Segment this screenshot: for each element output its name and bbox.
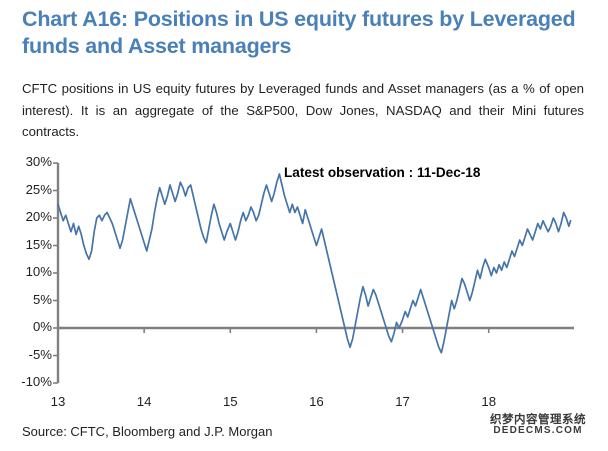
chart-title: Chart A16: Positions in US equity future…: [22, 6, 588, 60]
watermark: 织梦内容管理系统 DEDECMS.COM: [482, 414, 594, 437]
watermark-english: DEDECMS.COM: [482, 426, 594, 437]
x-axis-label: 13: [51, 394, 66, 409]
source-note: Source: CFTC, Bloomberg and J.P. Morgan: [22, 424, 273, 439]
x-axis-label: 18: [481, 394, 496, 409]
series-line-cftc-positions: [58, 174, 571, 353]
chart-subtitle: CFTC positions in US equity futures by L…: [22, 78, 584, 143]
x-axis-label: 14: [137, 394, 152, 409]
x-axis-label: 17: [395, 394, 410, 409]
x-axis-label: 15: [223, 394, 238, 409]
chart-page: Chart A16: Positions in US equity future…: [0, 0, 608, 451]
x-axis-label: 16: [309, 394, 324, 409]
chart-plot-area: [0, 150, 608, 400]
